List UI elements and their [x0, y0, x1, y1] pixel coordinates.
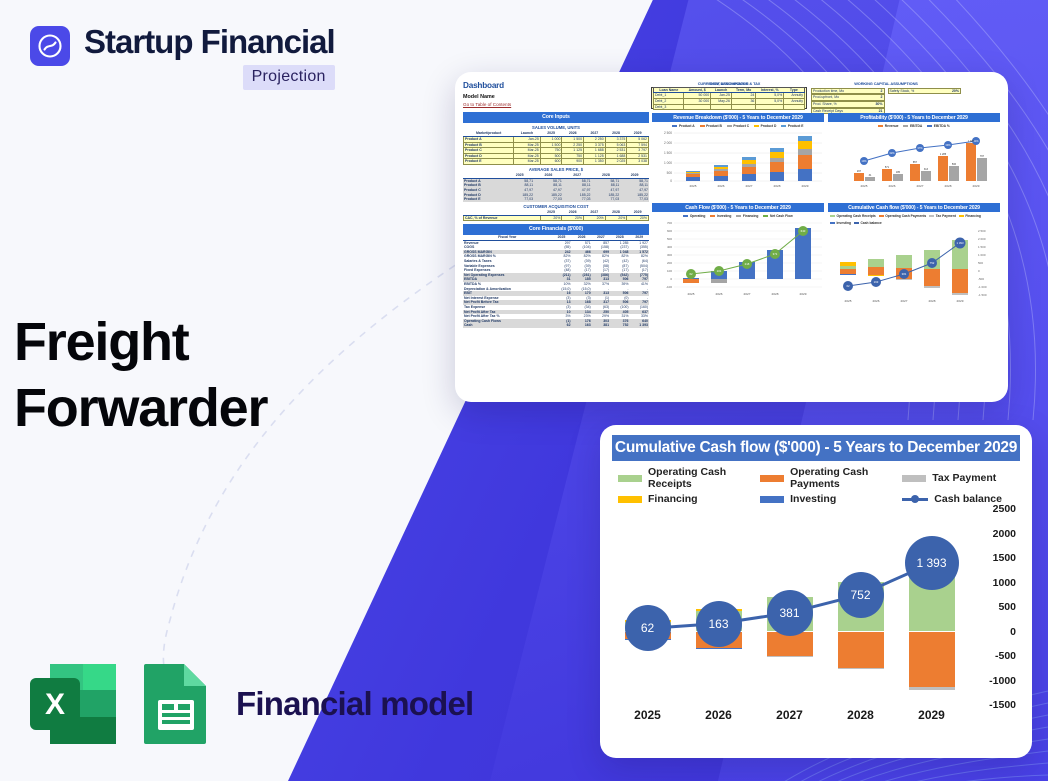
- svg-text:2029: 2029: [800, 292, 807, 296]
- chart-legend: Revenue EBITDA EBITDA %: [828, 122, 1000, 129]
- svg-text:1 000: 1 000: [978, 253, 986, 257]
- svg-text:62: 62: [689, 272, 693, 276]
- svg-text:10%: 10%: [861, 159, 867, 163]
- legend-item-operating-cash-payments: Operating Cash Payments: [760, 466, 902, 490]
- svg-text:37%: 37%: [917, 146, 923, 150]
- page-title: Freight Forwarder: [14, 310, 267, 442]
- dashboard-screenshot-card[interactable]: Dashboard Model Name Go to Table of Cont…: [455, 72, 1008, 402]
- svg-text:500: 500: [667, 171, 673, 175]
- legend-item: Operating: [683, 214, 705, 218]
- x-axis-labels: 2025 2026 2027 2028 2029: [612, 708, 967, 722]
- svg-text:2027: 2027: [744, 292, 751, 296]
- svg-text:2 000: 2 000: [978, 237, 986, 241]
- cell-value: 752: [610, 323, 629, 328]
- svg-text:163: 163: [874, 280, 879, 284]
- legend-item: Operating Cash Receipts: [830, 214, 876, 218]
- svg-text:297: 297: [857, 170, 862, 173]
- model-name-label: Model Name: [463, 93, 649, 101]
- svg-text:185: 185: [896, 171, 901, 174]
- data-point-label: 1 393: [905, 536, 959, 590]
- svg-text:1 285: 1 285: [940, 153, 947, 156]
- svg-text:1 500: 1 500: [664, 151, 672, 155]
- brand-logo: Startup Financial Projection: [30, 22, 335, 90]
- legend-item: Product A: [672, 124, 694, 128]
- chart-legend: Operating Cash Receipts Operating Cash P…: [828, 212, 1000, 226]
- svg-text:1 927: 1 927: [968, 140, 975, 143]
- cell-value: 163: [572, 323, 592, 328]
- svg-text:381: 381: [902, 272, 907, 276]
- y-axis-labels: 2500 2000 1500 1000 500 0 -500 -1000 -15…: [968, 509, 1020, 705]
- working-capital-box: WORKING CAPITAL ASSUMPTIONS Production t…: [811, 81, 961, 114]
- legend-item: Operating Cash Payments: [879, 214, 927, 218]
- svg-text:300: 300: [667, 253, 672, 257]
- cac-table: 2025 2026 2027 2028 2029 CAC, % of Reven…: [463, 210, 649, 221]
- legend-item: EBITDA %: [927, 124, 950, 128]
- svg-text:500: 500: [667, 237, 672, 241]
- brand-subtitle: Projection: [243, 65, 335, 90]
- format-badges: X Financial model: [28, 662, 473, 746]
- svg-text:2 000: 2 000: [664, 141, 672, 145]
- svg-text:200: 200: [667, 261, 672, 265]
- core-financials-table: Fiscal Year 2025 2026 2027 2028 2029 Rev…: [463, 235, 649, 328]
- debt-assumptions-box: DEBT ASSUMPTIONS Loan Name Amount, $ Lau…: [653, 81, 805, 110]
- svg-text:2025: 2025: [690, 184, 697, 188]
- chart-legend: Operating Cash Receipts Operating Cash P…: [612, 461, 1020, 507]
- svg-text:39%: 39%: [945, 143, 951, 147]
- chart-title: Cumulative Cash flow ($'000) - 5 Years t…: [612, 435, 1020, 461]
- svg-text:640: 640: [801, 229, 806, 233]
- cac-section-label: CUSTOMER ACQUISITION COST: [463, 202, 649, 210]
- svg-text:-1 500: -1 500: [978, 293, 987, 297]
- average-price-table: 2025 2026 2027 2028 2029 Product A58,715…: [463, 173, 649, 202]
- cell-value: 381: [592, 323, 610, 328]
- chart-plot-area: 10%32%37%39%41% 29731 571185 857313 1 28…: [828, 129, 1000, 189]
- sales-volume-table: Market/product Launch 2025 2026 2027 202…: [463, 131, 649, 165]
- cumulative-cash-flow-chart-mini[interactable]: Cumulative Cash flow ($'000) - 5 Years t…: [828, 203, 1000, 304]
- svg-text:400: 400: [667, 245, 672, 249]
- profitability-chart[interactable]: Profitability ($'000) - 5 Years to Decem…: [828, 113, 1000, 189]
- svg-text:2029: 2029: [957, 299, 964, 303]
- badge-label: Financial model: [236, 685, 473, 723]
- legend-item: Financing: [959, 214, 981, 218]
- chart-plot-area: 2 5002 0001 500 1 0005000 -500-1 000-1 5…: [828, 226, 1000, 304]
- google-sheets-icon: [140, 662, 212, 746]
- table-row: Product EMar-256009001 3502 0253 038: [464, 159, 649, 165]
- chart-plot-area: 2500 2000 1500 1000 500 0 -500 -1000 -15…: [612, 509, 1020, 722]
- dashboard-heading: Dashboard: [463, 80, 649, 92]
- cumulative-cash-flow-card[interactable]: Cumulative Cash flow ($'000) - 5 Years t…: [600, 425, 1032, 758]
- row-label: Cash: [463, 323, 551, 328]
- legend-item-financing: Financing: [618, 493, 760, 505]
- startup-financial-logo-icon: [30, 26, 70, 66]
- cash-flow-chart[interactable]: Cash Flow ($'000) - 5 Years to December …: [652, 203, 824, 297]
- svg-text:1 393: 1 393: [957, 241, 964, 245]
- svg-text:0: 0: [978, 269, 980, 273]
- svg-text:1 500: 1 500: [978, 245, 986, 249]
- svg-text:2 500: 2 500: [664, 131, 672, 135]
- svg-text:101: 101: [717, 269, 722, 273]
- svg-text:371: 371: [773, 252, 778, 256]
- page-title-line-2: Forwarder: [14, 376, 267, 442]
- svg-text:2026: 2026: [716, 292, 723, 296]
- svg-text:1 000: 1 000: [664, 161, 672, 165]
- cash-balance-nodes: 621633817521 393: [612, 509, 967, 705]
- legend-item: Net Cash Flow: [763, 214, 792, 218]
- svg-text:2026: 2026: [889, 184, 896, 188]
- avg-price-section-label: AVERAGE SALES PRICE, $: [463, 165, 649, 173]
- svg-text:2029: 2029: [973, 184, 980, 188]
- svg-text:-1 000: -1 000: [978, 285, 987, 289]
- svg-text:2028: 2028: [929, 299, 936, 303]
- svg-text:62: 62: [846, 284, 850, 288]
- chart-legend: Product A Product B Product C Product D …: [652, 122, 824, 129]
- brand-title: Startup Financial: [84, 22, 335, 62]
- svg-text:2027: 2027: [746, 184, 753, 188]
- svg-text:0: 0: [670, 277, 672, 281]
- svg-text:0: 0: [670, 179, 672, 183]
- svg-text:2025: 2025: [688, 292, 695, 296]
- legend-item: Product E: [781, 124, 803, 128]
- svg-text:2 500: 2 500: [978, 229, 986, 233]
- svg-text:2025: 2025: [861, 184, 868, 188]
- table-row: CAC, % of Revenue20%20%20%20%20%: [464, 215, 649, 221]
- data-point-label: 62: [625, 605, 671, 651]
- legend-item: Product D: [754, 124, 776, 128]
- legend-item: Revenue: [878, 124, 898, 128]
- legend-item-tax-payment: Tax Payment: [902, 466, 1016, 490]
- svg-text:2027: 2027: [917, 184, 924, 188]
- chart-plot-area: 700600500400 3002001000-100 6: [652, 219, 824, 297]
- page-title-line-1: Freight: [14, 310, 267, 376]
- svg-text:2028: 2028: [772, 292, 779, 296]
- table-of-contents-link[interactable]: Go to Table of Contents: [463, 102, 649, 109]
- svg-text:2029: 2029: [802, 184, 809, 188]
- svg-text:2028: 2028: [945, 184, 952, 188]
- data-point-label: 163: [696, 601, 742, 647]
- svg-text:857: 857: [913, 161, 918, 164]
- svg-text:700: 700: [667, 221, 672, 225]
- svg-text:500: 500: [978, 261, 983, 265]
- chart-legend: Operating Investing Financing Net Cash F…: [652, 212, 824, 219]
- core-financials-band: Core Financials ($'000): [463, 224, 649, 235]
- svg-text:752: 752: [930, 261, 935, 265]
- revenue-breakdown-chart[interactable]: Revenue Breakdown ($'000) - 5 Years to D…: [652, 113, 824, 189]
- cell-value: 62: [551, 323, 571, 328]
- legend-item: Investing: [830, 221, 851, 225]
- svg-text:2026: 2026: [873, 299, 880, 303]
- svg-text:313: 313: [924, 168, 929, 171]
- svg-text:41%: 41%: [973, 139, 979, 143]
- legend-item-operating-cash-receipts: Operating Cash Receipts: [618, 466, 760, 490]
- table-row: Cash621633817521 393: [463, 323, 649, 328]
- svg-text:2027: 2027: [901, 299, 908, 303]
- svg-text:2026: 2026: [718, 184, 725, 188]
- chart-plot-area: 2 5002 0001 500 1 0005000 20252026202720…: [652, 129, 824, 189]
- svg-text:32%: 32%: [889, 151, 895, 155]
- sales-volume-section-label: SALES VOLUME, UNITS: [463, 123, 649, 131]
- data-point-label: 381: [767, 590, 813, 636]
- cell-value: 1 393: [630, 323, 650, 328]
- data-point-label: 752: [838, 572, 884, 618]
- svg-text:2025: 2025: [845, 299, 852, 303]
- core-inputs-band: Core Inputs: [463, 112, 649, 123]
- svg-text:506: 506: [952, 163, 957, 166]
- legend-item: Financing: [736, 214, 758, 218]
- svg-text:-100: -100: [666, 285, 672, 289]
- microsoft-excel-icon: X: [28, 662, 118, 746]
- svg-text:31: 31: [869, 174, 872, 177]
- legend-item: Investing: [710, 214, 731, 218]
- svg-text:571: 571: [885, 166, 890, 169]
- legend-item: Cash balance: [854, 221, 882, 225]
- table-row: Debt_3: [654, 104, 805, 110]
- svg-text:797: 797: [980, 155, 985, 158]
- legend-item: Product C: [727, 124, 749, 128]
- svg-text:X: X: [45, 688, 65, 721]
- legend-item-investing: Investing: [760, 493, 902, 505]
- svg-text:100: 100: [667, 269, 672, 273]
- legend-item: EBITDA: [903, 124, 922, 128]
- svg-text:2028: 2028: [774, 184, 781, 188]
- legend-item: Tax Payment: [929, 214, 956, 218]
- dashboard-spreadsheet-left: Dashboard Model Name Go to Table of Cont…: [463, 80, 649, 328]
- svg-text:-500: -500: [978, 277, 984, 281]
- legend-item: Product B: [700, 124, 722, 128]
- svg-text:600: 600: [667, 229, 672, 233]
- svg-text:218: 218: [745, 262, 750, 266]
